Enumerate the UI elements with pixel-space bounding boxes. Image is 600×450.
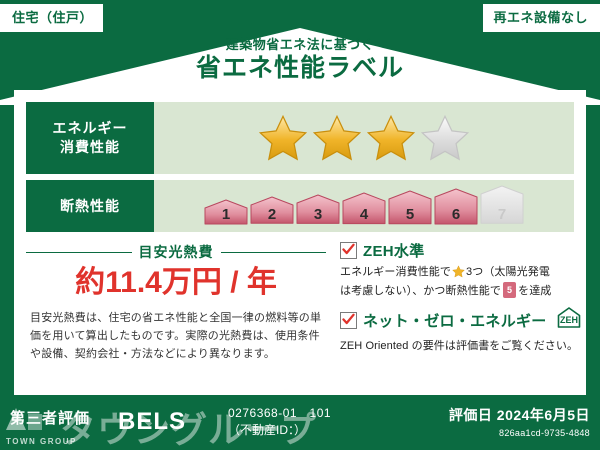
label-footer: 第三者評価 BELS 0276368-01 101 （不動産ID：） 評価日 2… <box>0 395 600 450</box>
zeh-netzero-description: ZEH Oriented の要件は評価書をご覧ください。 <box>340 338 585 356</box>
label-body-card: エネルギー 消費性能 断熱性能 1234567 目安光熱費 <box>14 90 586 395</box>
zeh-standard-header: ZEH水準 <box>340 240 585 261</box>
insulation-grade-6: 6 <box>434 188 478 225</box>
zeh-standard-title: ZEH水準 <box>363 240 425 261</box>
star-icon-empty <box>419 113 471 163</box>
footer-third-party-eval-label: 第三者評価 <box>10 407 90 428</box>
zeh-item-standard: ZEH水準 エネルギー消費性能で3つ（太陽光発電は考慮しない）、かつ断熱性能で5… <box>340 240 585 300</box>
footer-right-block: 評価日 2024年6月5日 826aa1cd-9735-4848 <box>449 405 590 438</box>
footer-realestate-id: （不動産ID：） <box>228 423 306 437</box>
lower-info-section: 目安光熱費 約11.4万円 / 年 目安光熱費は、住宅の省エネ性能と全国一律の燃… <box>26 240 574 380</box>
insulation-grade-7: 7 <box>480 185 524 224</box>
footer-certificate-info: 0276368-01 101 （不動産ID：） <box>228 405 331 440</box>
insulation-grade-number: 7 <box>480 207 524 222</box>
cost-heading-text: 目安光熱費 <box>139 242 214 262</box>
label-title-block: 建築物省エネ法に基づく 省エネ性能ラベル <box>0 38 600 83</box>
zeh-item-net-zero: ネット・ゼロ・エネルギー ZEH ZEH Oriented の要件は評価書をご覧… <box>340 306 585 356</box>
star-icon-filled <box>257 113 309 163</box>
zeh-desc-part2: は考慮しない）、かつ断熱性能で <box>340 285 501 297</box>
zeh-desc-part3: を達成 <box>518 285 551 297</box>
insulation-label-text: 断熱性能 <box>60 197 120 216</box>
zeh-logo-icon: ZEH <box>555 306 585 335</box>
energy-performance-label: エネルギー 消費性能 <box>26 102 154 174</box>
zeh-desc-star-count: 3つ（太陽光発電 <box>466 266 550 278</box>
row-insulation-performance: 断熱性能 1234567 <box>26 180 574 232</box>
title-main: 省エネ性能ラベル <box>0 54 600 83</box>
svg-text:BELS: BELS <box>118 408 186 435</box>
insulation-grade-number: 2 <box>250 207 294 222</box>
insulation-grade-2: 2 <box>250 196 294 224</box>
energy-performance-value <box>154 102 574 174</box>
cost-amount: 約11.4万円 / 年 <box>26 266 326 299</box>
badge-renewable-equipment: 再エネ設備なし <box>483 4 600 32</box>
zeh-netzero-title: ネット・ゼロ・エネルギー <box>363 310 547 331</box>
zeh-standard-description: エネルギー消費性能で3つ（太陽光発電は考慮しない）、かつ断熱性能で5を達成 <box>340 264 585 300</box>
zeh-netzero-checkbox[interactable] <box>340 312 357 329</box>
insulation-grade-number: 1 <box>204 207 248 222</box>
footer-code: 826aa1cd-9735-4848 <box>449 428 590 438</box>
star-icon <box>452 265 465 278</box>
insulation-grade-1: 1 <box>204 199 248 225</box>
title-subtitle: 建築物省エネ法に基づく <box>0 38 600 52</box>
energy-label-line1: エネルギー <box>53 119 128 138</box>
insulation-grade-4: 4 <box>342 192 386 225</box>
energy-label-line2: 消費性能 <box>60 138 120 157</box>
insulation-grade-3: 3 <box>296 194 340 224</box>
zeh-desc-grade-badge: 5 <box>503 282 516 298</box>
insulation-grade-number: 5 <box>388 207 432 222</box>
zeh-section: ZEH水準 エネルギー消費性能で3つ（太陽光発電は考慮しない）、かつ断熱性能で5… <box>326 240 585 380</box>
insulation-grade-scale: 1234567 <box>204 185 524 226</box>
insulation-performance-label: 断熱性能 <box>26 180 154 232</box>
star-icon-filled <box>365 113 417 163</box>
insulation-grade-number: 4 <box>342 207 386 222</box>
zeh-netzero-header: ネット・ゼロ・エネルギー ZEH <box>340 306 585 335</box>
insulation-grade-number: 6 <box>434 207 478 222</box>
star-icon-filled <box>311 113 363 163</box>
zeh-standard-checkbox[interactable] <box>340 242 357 259</box>
cost-rule-right <box>221 252 327 253</box>
insulation-grade-number: 3 <box>296 207 340 222</box>
insulation-grade-5: 5 <box>388 190 432 225</box>
energy-performance-label: 住宅（住戸） 再エネ設備なし 建築物省エネ法に基づく 省エネ性能ラベル エネルギ… <box>0 0 600 450</box>
cost-heading-row: 目安光熱費 <box>26 242 326 262</box>
svg-text:ZEH: ZEH <box>560 315 578 325</box>
badge-dwelling-type: 住宅（住戸） <box>0 4 103 32</box>
utility-cost-section: 目安光熱費 約11.4万円 / 年 目安光熱費は、住宅の省エネ性能と全国一律の燃… <box>26 240 326 380</box>
footer-evaluation-date: 評価日 2024年6月5日 <box>449 407 590 423</box>
star-rating <box>257 113 471 163</box>
row-energy-performance: エネルギー 消費性能 <box>26 102 574 174</box>
cost-rule-left <box>26 252 132 253</box>
zeh-desc-part1: エネルギー消費性能で <box>340 266 451 278</box>
footer-cert-number: 0276368-01 101 <box>228 406 331 420</box>
bels-logo: BELS <box>118 403 214 442</box>
cost-disclaimer-note: 目安光熱費は、住宅の省エネ性能と全国一律の燃料等の単価を用いて算出したものです。… <box>26 309 326 363</box>
insulation-performance-value: 1234567 <box>154 180 574 232</box>
